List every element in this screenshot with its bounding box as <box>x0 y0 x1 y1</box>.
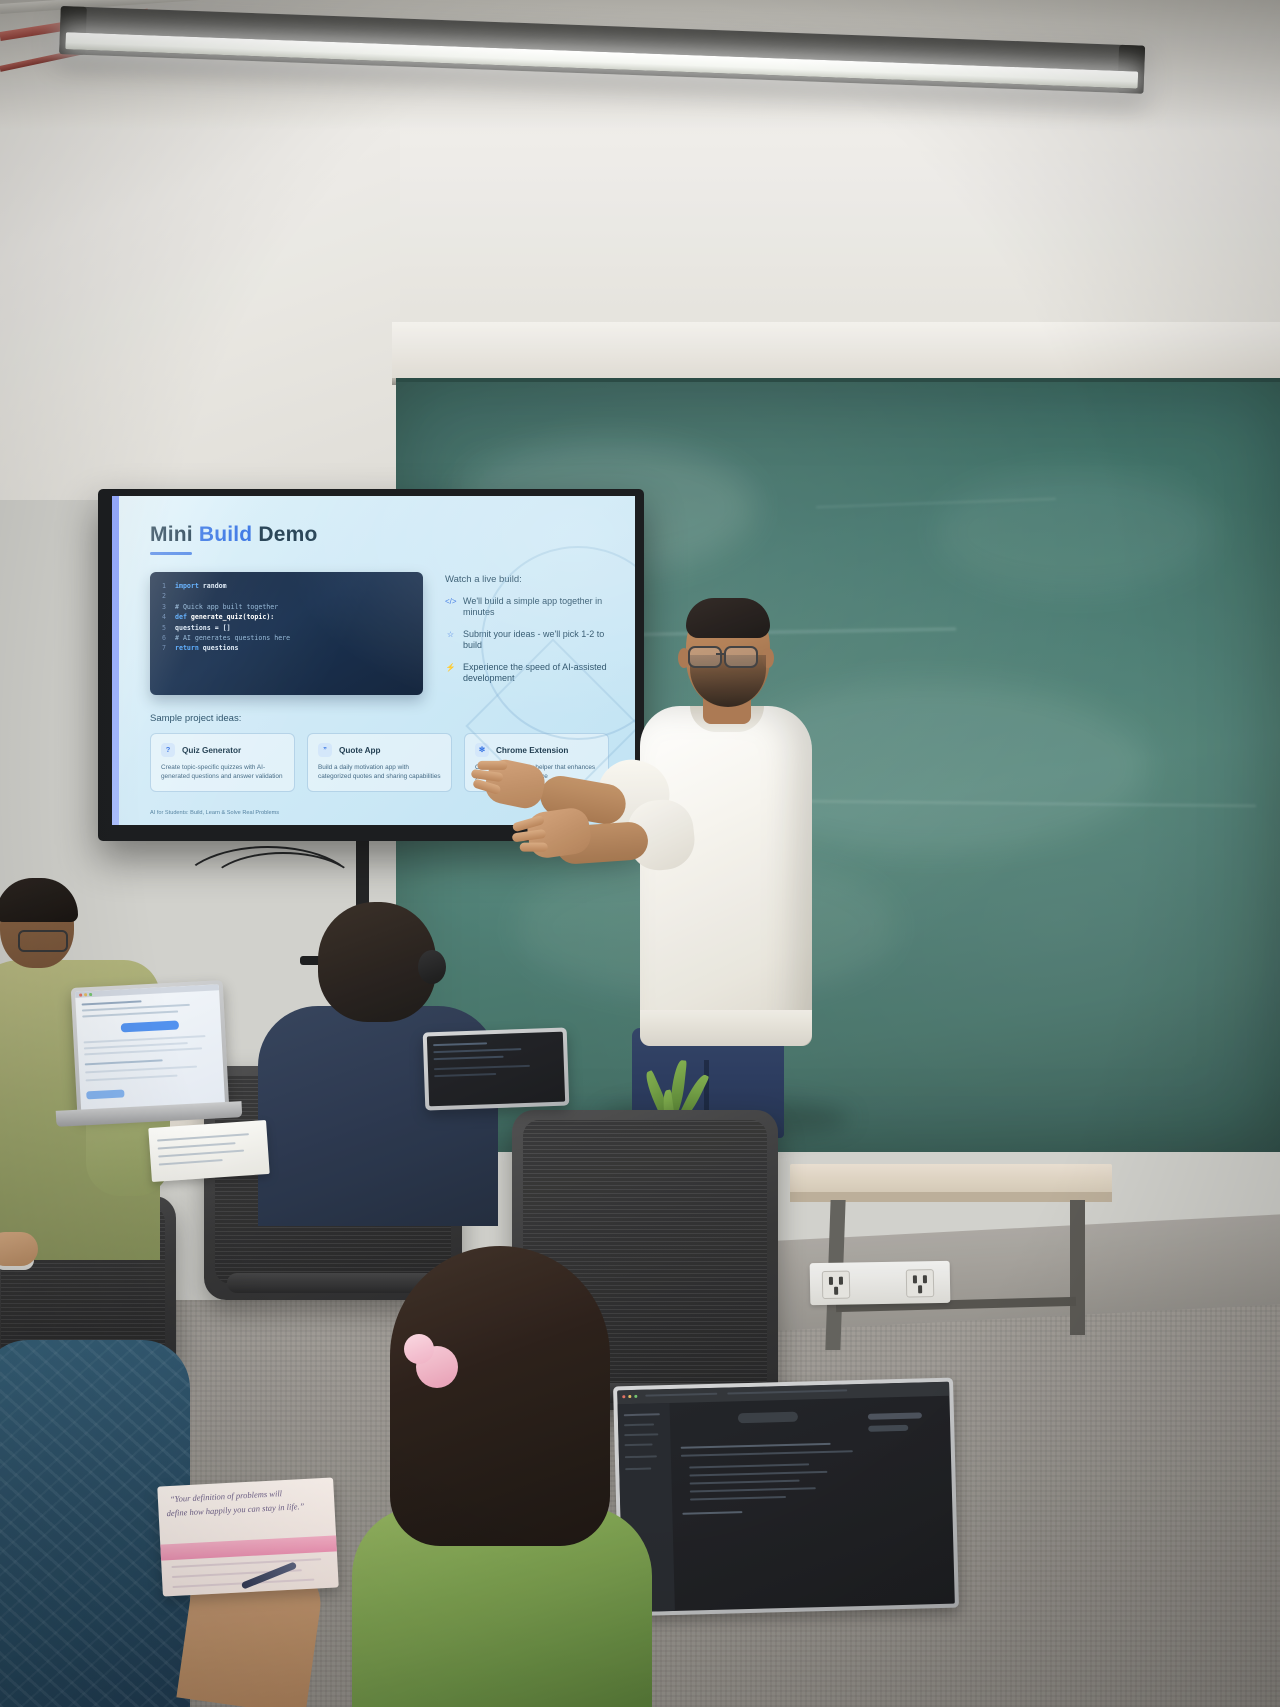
card-title: Quiz Generator <box>182 746 241 755</box>
code-snippet-block: 1import random23# Quick app built togeth… <box>150 572 423 695</box>
code-line: 6# AI generates questions here <box>158 633 413 643</box>
stack-of-papers <box>148 1120 269 1182</box>
classroom-photo-scene: Mini Build Demo 1import random23# Quick … <box>0 0 1280 1707</box>
eyeglasses-bridge <box>716 653 726 655</box>
quote-icon: ” <box>318 743 332 757</box>
project-idea-card[interactable]: ”Quote AppBuild a daily motivation app w… <box>307 733 452 792</box>
attendee-front-center-hair <box>390 1246 610 1546</box>
card-description: Build a daily motivation app with catego… <box>318 764 442 781</box>
hair-scrunchie-secondary <box>404 1334 434 1364</box>
presenter-hair <box>686 598 770 638</box>
eyeglasses-right-lens-icon <box>724 646 758 668</box>
laptop-screen[interactable] <box>617 1382 955 1613</box>
title-underline <box>150 552 192 555</box>
question-mark-icon: ? <box>161 743 175 757</box>
laptop-lid <box>613 1378 959 1617</box>
slide-footer: AI for Students: Build, Learn & Solve Re… <box>150 810 279 816</box>
slide-title: Mini Build Demo <box>150 524 609 545</box>
code-line-number: 7 <box>158 643 166 653</box>
laptop-front[interactable] <box>613 1378 959 1617</box>
code-line: 1import random <box>158 581 413 591</box>
slide-title-accent: Build <box>199 523 253 546</box>
attendee-center-headphone-icon <box>418 950 446 984</box>
code-line-number: 4 <box>158 612 166 622</box>
code-line: 2 <box>158 591 413 601</box>
code-line-number: 2 <box>158 591 166 601</box>
chair-lumbar-support <box>227 1273 439 1293</box>
laptop-lid <box>423 1028 570 1111</box>
code-line: 4def generate_quiz(topic): <box>158 612 413 622</box>
code-line-text: def generate_quiz(topic): <box>175 612 274 622</box>
power-outlet-plate[interactable] <box>810 1261 951 1305</box>
laptop-screen[interactable] <box>427 1032 565 1107</box>
wall-soffit <box>392 322 1280 382</box>
code-line-text: import random <box>175 581 227 591</box>
power-socket-right[interactable] <box>906 1269 934 1297</box>
code-brackets-icon: </> <box>445 596 456 607</box>
slide-title-part2: Demo <box>252 523 317 546</box>
lightbulb-icon: ☆ <box>445 629 456 640</box>
project-idea-card[interactable]: ?Quiz GeneratorCreate topic-specific qui… <box>150 733 295 792</box>
code-line: 3# Quick app built together <box>158 602 413 612</box>
code-line-number: 1 <box>158 581 166 591</box>
code-line-text: # Quick app built together <box>175 602 278 612</box>
open-notebook: “Your definition of problems will define… <box>157 1477 339 1596</box>
code-line-number: 6 <box>158 633 166 643</box>
attendee-left-glasses-icon <box>18 930 68 952</box>
card-header: ”Quote App <box>318 743 442 757</box>
notebook-pink-tab <box>160 1535 337 1560</box>
code-line-text: questions = [] <box>175 623 231 633</box>
desk-leg-right <box>1070 1200 1085 1335</box>
eyeglasses-left-lens-icon <box>688 646 722 668</box>
code-line-number: 3 <box>158 602 166 612</box>
code-line-number: 5 <box>158 623 166 633</box>
card-title: Quote App <box>339 746 381 755</box>
power-socket-left[interactable] <box>822 1271 850 1299</box>
code-line: 7return questions <box>158 643 413 653</box>
lightning-icon: ⚡ <box>445 662 456 673</box>
card-description: Create topic-specific quizzes with AI-ge… <box>161 764 285 781</box>
presenter-tshirt <box>640 706 812 1046</box>
code-line-text: return questions <box>175 643 239 653</box>
laptop-center[interactable] <box>423 1028 570 1111</box>
laptop-lid <box>71 980 229 1116</box>
laptop-screen[interactable] <box>75 984 225 1111</box>
browser-titlebar <box>75 984 219 998</box>
presenter-shirt-hem <box>640 1010 812 1046</box>
attendee-left-hair <box>0 878 78 922</box>
card-header: ?Quiz Generator <box>161 743 285 757</box>
code-line-text: # AI generates questions here <box>175 633 290 643</box>
back-desk-top <box>790 1164 1112 1194</box>
slide-title-part1: Mini <box>150 523 199 546</box>
code-line: 5questions = [] <box>158 623 413 633</box>
laptop-left[interactable] <box>71 980 229 1116</box>
attendee-front-left-hand <box>0 1232 38 1266</box>
